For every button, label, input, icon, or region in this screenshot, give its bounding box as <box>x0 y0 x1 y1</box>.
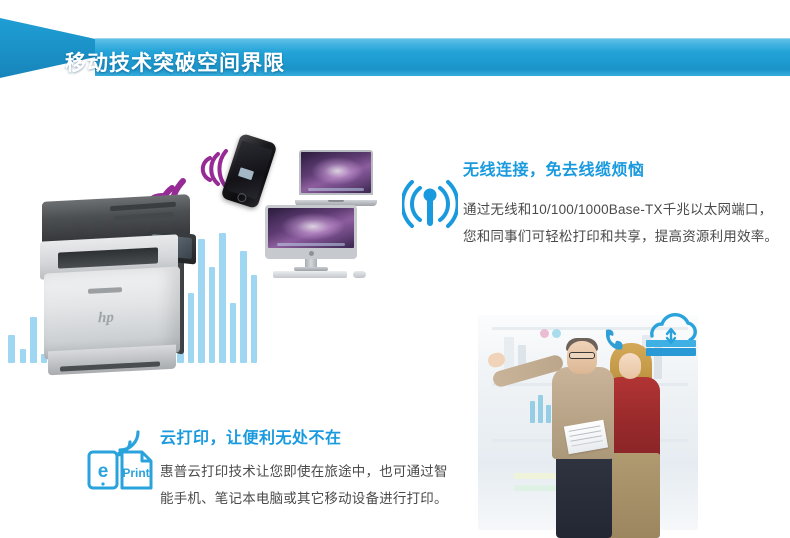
cloudprint-body-text: 惠普云打印技术让您即使在旅途中，也可通过智能手机、笔记本电脑或其它移动设备进行打… <box>160 458 460 512</box>
laptop-device <box>295 150 377 206</box>
imac-screen <box>268 208 354 248</box>
equalizer-bar <box>8 335 15 363</box>
woman-legs <box>606 453 660 538</box>
eprint-logo-icon: e Print <box>86 430 154 492</box>
equalizer-bar <box>230 303 236 363</box>
laptop-screen <box>301 152 371 193</box>
equalizer-bar <box>219 233 226 363</box>
laptop-lid <box>299 150 373 195</box>
imac-keyboard <box>273 271 347 278</box>
decor-dot <box>540 329 549 338</box>
equalizer-bar <box>20 349 26 363</box>
wireless-body-text: 通过无线和10/100/1000Base-TX千兆以太网端口，您和同事们可轻松打… <box>463 196 783 250</box>
cloud-print-icon <box>630 310 710 358</box>
page-title: 移动技术突破空间界限 <box>65 47 285 77</box>
man-glasses <box>569 352 595 359</box>
imac-device <box>265 205 357 277</box>
decor-bar <box>546 405 551 423</box>
equalizer-bar <box>251 275 257 363</box>
office-scene-photo: hp <box>470 305 790 538</box>
printer-hp-logo: hp <box>98 310 114 328</box>
svg-text:e: e <box>98 461 109 482</box>
equalizer-bar <box>240 251 247 363</box>
decor-strip <box>514 485 562 491</box>
imac-body <box>265 205 357 259</box>
header-banner: 移动技术突破空间界限 <box>0 18 790 78</box>
decor-bar <box>538 395 543 423</box>
woman-face <box>619 353 641 379</box>
printer-illustration: hp <box>36 198 198 376</box>
wifi-broadcast-icon <box>402 178 458 230</box>
wireless-heading: 无线连接，免去线缆烦恼 <box>463 156 645 180</box>
man-legs <box>556 453 612 538</box>
svg-text:Print: Print <box>122 466 149 480</box>
equalizer-bar <box>198 239 205 363</box>
product-feature-page: 移动技术突破空间界限 <box>0 0 790 538</box>
cloudprint-heading: 云打印，让便利无处不在 <box>160 424 342 448</box>
decor-bar <box>530 401 535 423</box>
imac-mouse <box>353 271 366 278</box>
equalizer-bar <box>209 267 215 363</box>
telephone-handset-icon <box>602 327 626 353</box>
imac-logo <box>309 251 314 256</box>
decor-dot <box>552 329 561 338</box>
